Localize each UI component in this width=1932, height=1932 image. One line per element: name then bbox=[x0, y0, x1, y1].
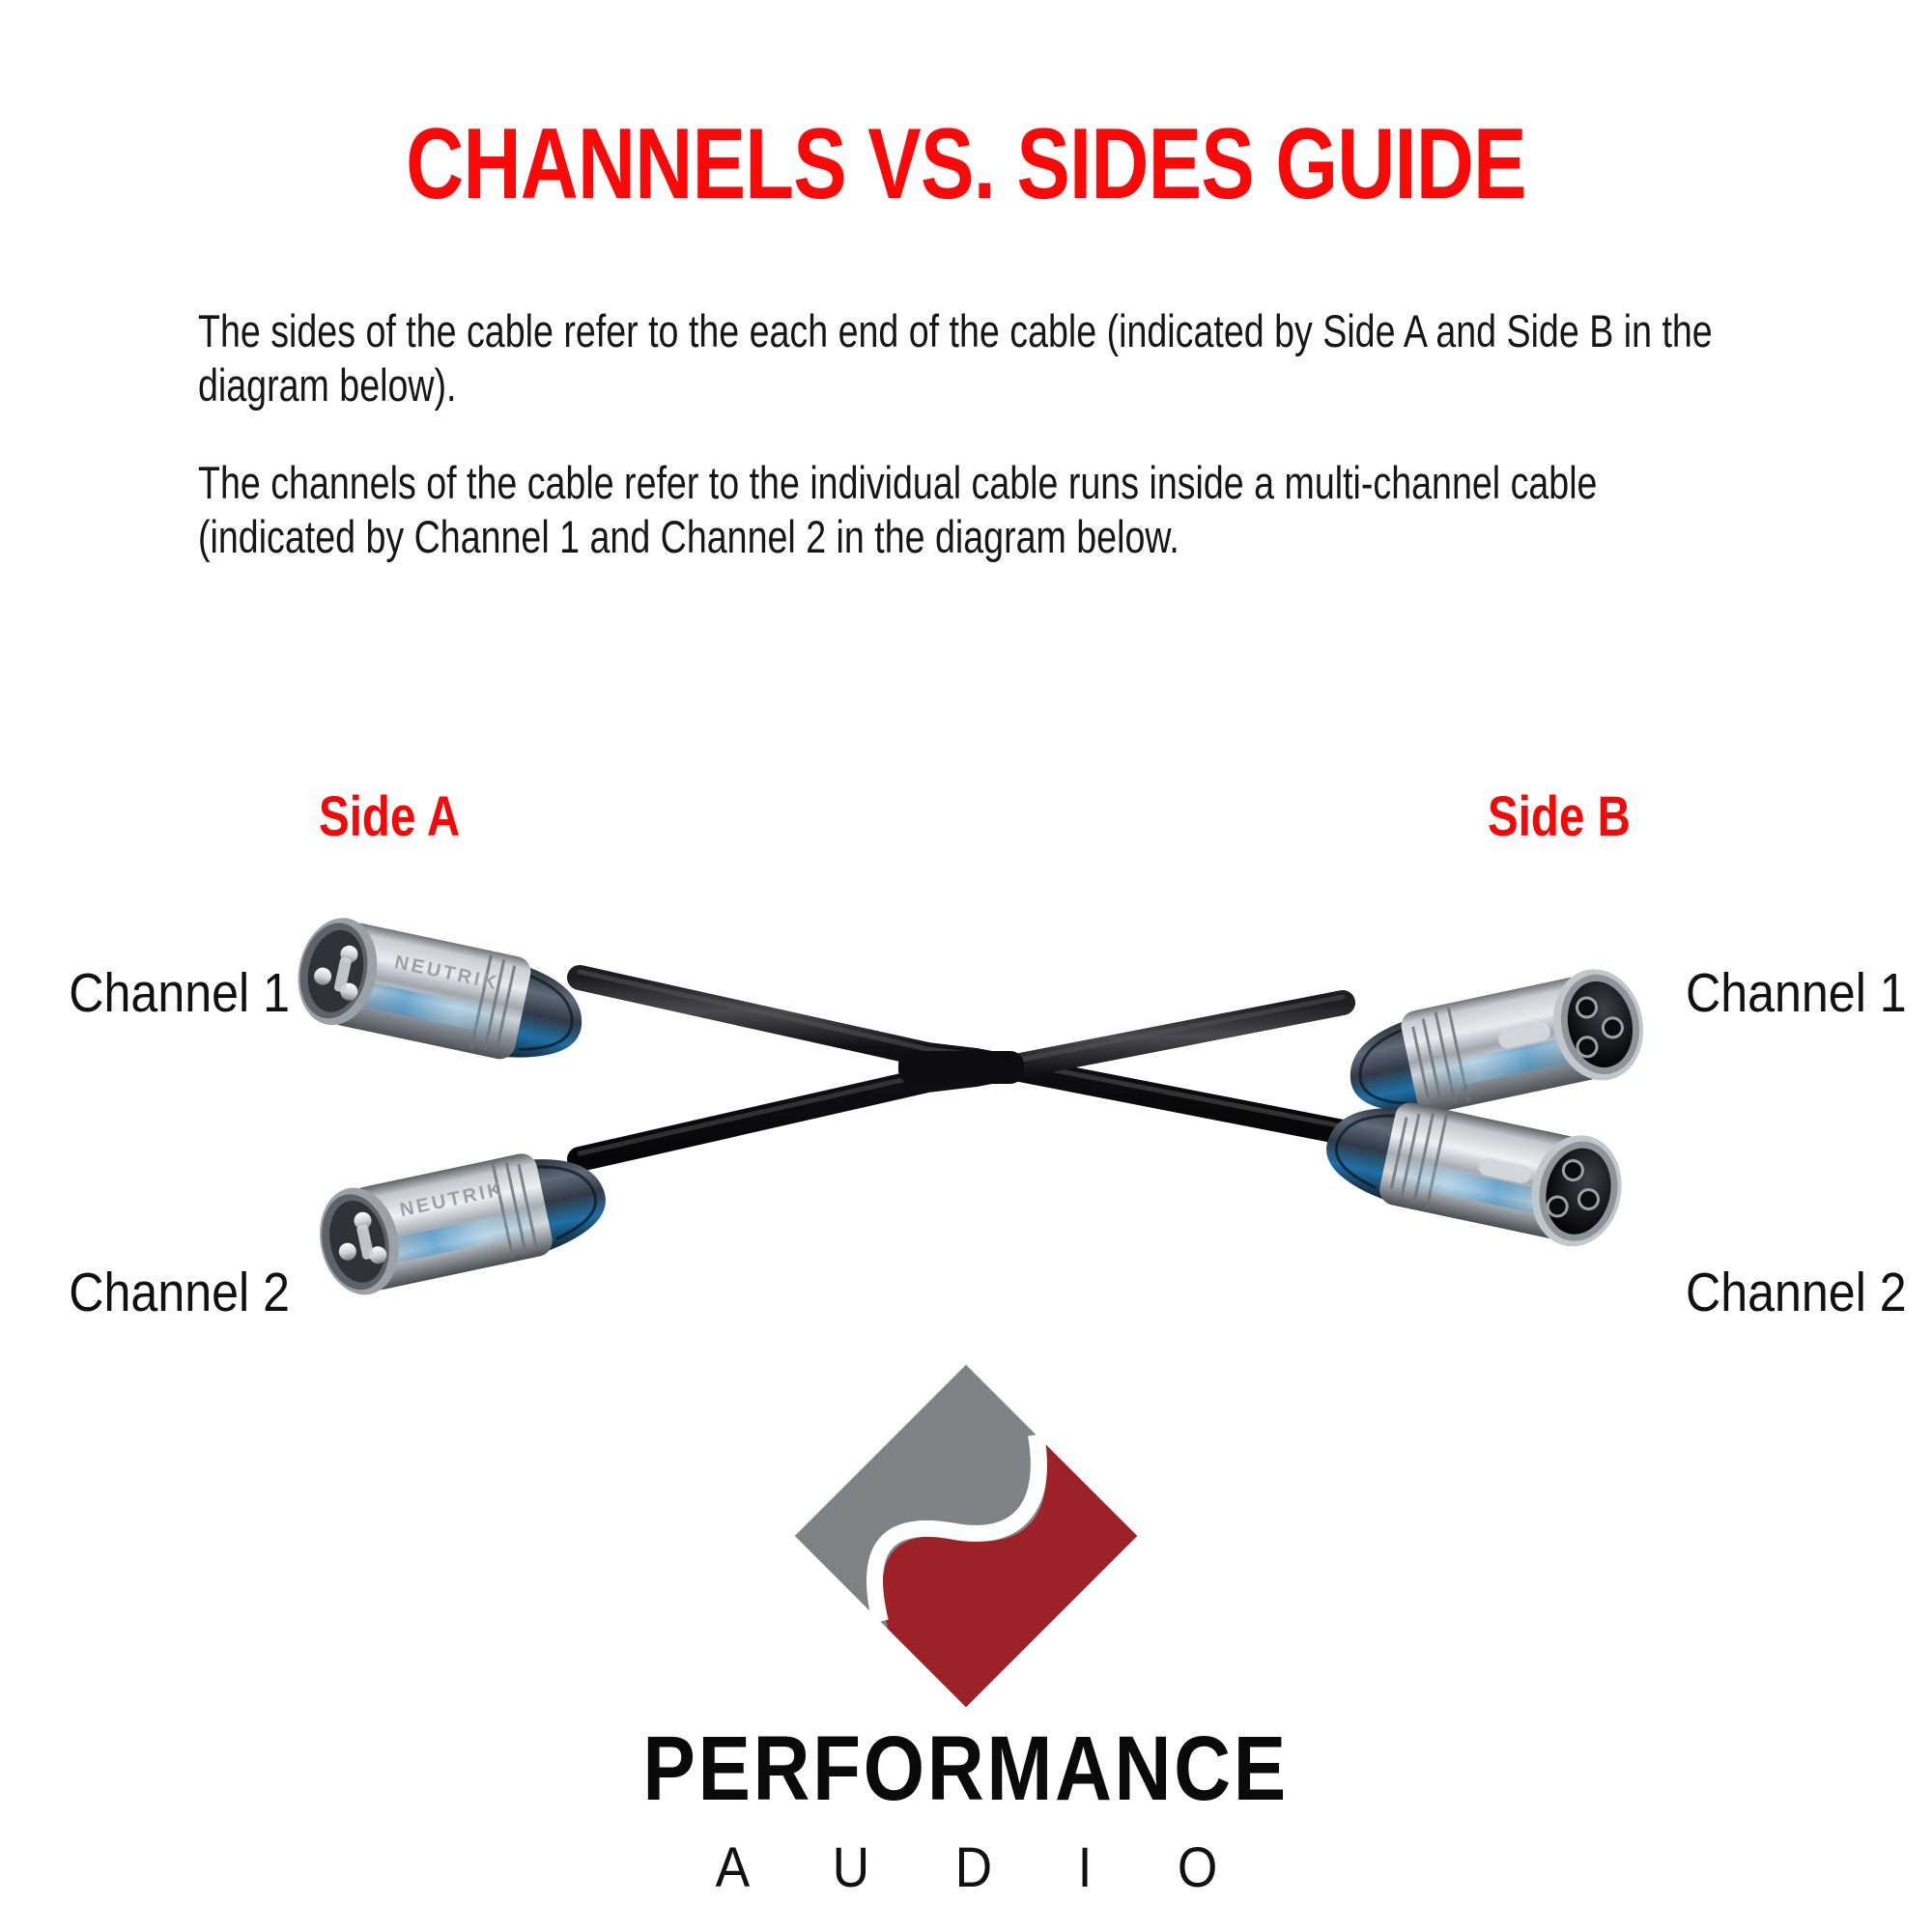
infographic-page: CHANNELS VS. SIDES GUIDE The sides of th… bbox=[0, 0, 1932, 1932]
side-b-label: Side B bbox=[1488, 784, 1631, 849]
performance-audio-diamond-icon bbox=[782, 1352, 1150, 1719]
connector-side-b-channel-1 bbox=[1338, 961, 1653, 1133]
connector-side-a-channel-1: NEUTRIK bbox=[289, 911, 594, 1077]
cable-crossing-point bbox=[898, 1051, 1024, 1084]
brand-logo: PERFORMANCE A U D I O bbox=[0, 1352, 1932, 1896]
brand-subwordmark: A U D I O bbox=[679, 1840, 1252, 1896]
brand-wordmark: PERFORMANCE bbox=[643, 1723, 1289, 1815]
paragraph-sides: The sides of the cable refer to the each… bbox=[198, 304, 1744, 413]
page-title: CHANNELS VS. SIDES GUIDE bbox=[193, 114, 1739, 214]
side-a-label: Side A bbox=[319, 784, 460, 849]
paragraph-channels: The channels of the cable refer to the i… bbox=[198, 456, 1744, 565]
cable-crossover-diagram: NEUTRIK NEUTRIK bbox=[0, 869, 1932, 1362]
intro-text-block: The sides of the cable refer to the each… bbox=[198, 304, 1744, 608]
connector-side-b-channel-2 bbox=[1317, 1083, 1632, 1255]
